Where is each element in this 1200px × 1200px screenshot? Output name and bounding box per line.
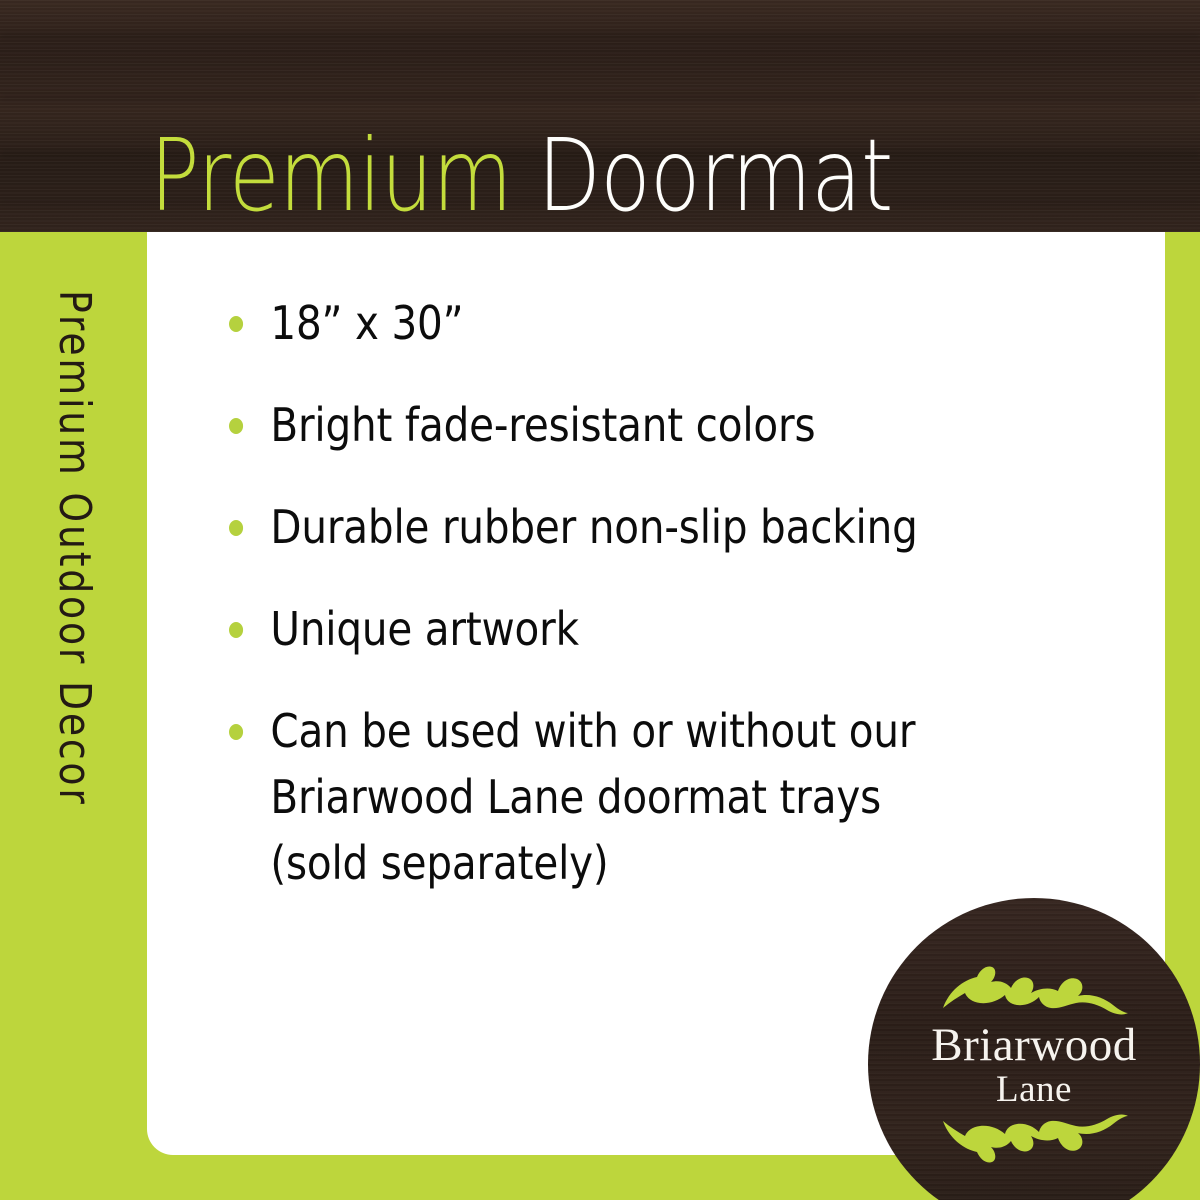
- oak-leaf-icon: [939, 1113, 1129, 1165]
- feature-text: Durable rubber non-slip backing: [270, 494, 1021, 560]
- wood-grain-streak: [0, 96, 1200, 99]
- page-title-accent: Premium: [150, 117, 512, 232]
- bullet-icon: [229, 418, 243, 434]
- list-item: 18” x 30”: [229, 290, 1021, 356]
- logo-name-sub: Lane: [931, 1070, 1137, 1110]
- logo-content: Briarwood Lane: [868, 898, 1200, 1200]
- feature-text: Unique artwork: [270, 596, 1021, 662]
- sidebar-vertical-label: Premium Outdoor Decor: [0, 290, 148, 807]
- page-title-plain: Doormat: [512, 117, 893, 232]
- feature-text: Bright fade-resistant colors: [270, 392, 1021, 458]
- feature-text: Can be used with or without our Briarwoo…: [270, 698, 974, 896]
- bullet-icon: [229, 316, 243, 332]
- list-item: Bright fade-resistant colors: [229, 392, 1021, 458]
- wood-grain-streak: [0, 34, 1200, 38]
- list-item: Unique artwork: [229, 596, 1021, 662]
- bullet-icon: [229, 724, 243, 740]
- logo-name-main: Briarwood: [931, 1020, 1137, 1070]
- feature-list: 18” x 30” Bright fade-resistant colors D…: [229, 290, 1129, 896]
- page-title: Premium Doormat: [150, 117, 893, 232]
- logo-wordmark: Briarwood Lane: [931, 1020, 1137, 1110]
- oak-leaf-icon: [939, 964, 1129, 1016]
- bullet-icon: [229, 622, 243, 638]
- product-infographic: Premium Doormat Premium Outdoor Decor 18…: [0, 0, 1200, 1200]
- sidebar: Premium Outdoor Decor: [0, 232, 148, 1200]
- list-item: Can be used with or without our Briarwoo…: [229, 698, 974, 896]
- bullet-icon: [229, 520, 243, 536]
- brand-logo-badge: Briarwood Lane: [868, 898, 1200, 1200]
- header-banner: Premium Doormat: [0, 0, 1200, 232]
- feature-text: 18” x 30”: [270, 290, 1021, 356]
- list-item: Durable rubber non-slip backing: [229, 494, 1021, 560]
